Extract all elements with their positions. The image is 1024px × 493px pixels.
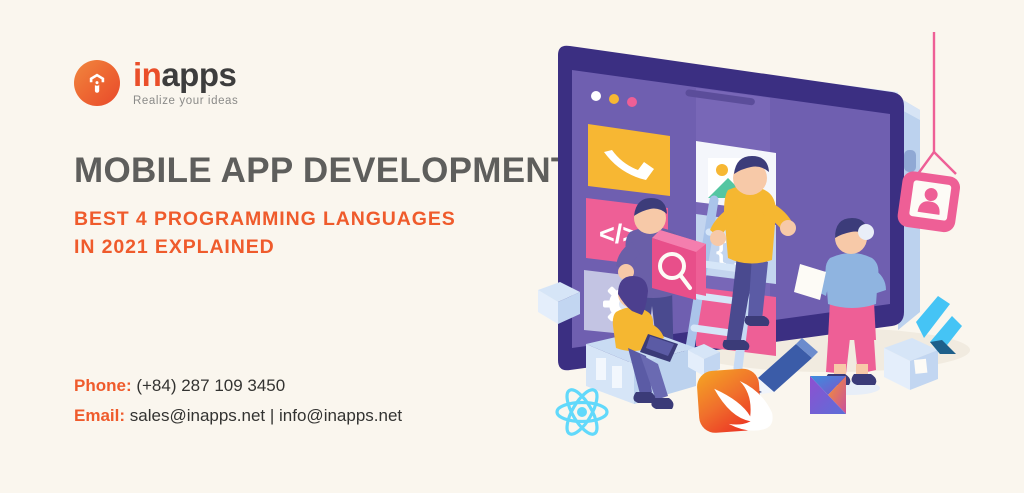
status-dot-yellow: [609, 94, 619, 104]
brand-wordmark: inapps Realize your ideas: [133, 58, 238, 108]
ladder-dev-torso: [724, 185, 776, 263]
designer-shoe-2: [852, 374, 877, 385]
box-label-1: [596, 358, 606, 380]
ladder-dev-shoe-2: [745, 316, 770, 326]
kotlin-logo: [810, 376, 846, 414]
email-value[interactable]: sales@inapps.net | info@inapps.net: [130, 406, 402, 425]
marketing-banner: inapps Realize your ideas MOBILE APP DEV…: [0, 0, 1024, 493]
email-line: Email: sales@inapps.net | info@inapps.ne…: [74, 401, 402, 431]
laptop-dev-shoe-2: [651, 398, 673, 409]
brand-name-apps: apps: [161, 56, 236, 93]
phone-label: Phone:: [74, 376, 132, 395]
brand-name: inapps: [133, 58, 238, 91]
page-subtitle: BEST 4 PROGRAMMING LANGUAGES IN 2021 EXP…: [74, 205, 574, 262]
phone-volume-button[interactable]: [904, 150, 916, 172]
page-title: MOBILE APP DEVELOPMENT: [74, 152, 574, 191]
email-label: Email:: [74, 406, 125, 425]
phone-call-tile[interactable]: [588, 124, 670, 196]
status-dot-pink: [627, 97, 637, 107]
subtitle-line-2: IN 2021 EXPLAINED: [74, 233, 574, 261]
status-dot-white: [591, 91, 601, 101]
phone-value[interactable]: (+84) 287 109 3450: [136, 376, 285, 395]
ladder-dev-hand-right: [780, 220, 796, 236]
inapps-logo-icon: [74, 60, 120, 106]
illustration: </> { }: [500, 0, 1024, 493]
brand-logo[interactable]: inapps Realize your ideas: [74, 58, 574, 108]
image-icon-sun: [716, 164, 728, 176]
contact-info: Phone: (+84) 287 109 3450 Email: sales@i…: [74, 371, 402, 431]
designer-hair-bun: [858, 224, 874, 240]
subtitle-line-1: BEST 4 PROGRAMMING LANGUAGES: [74, 205, 574, 233]
content-column: inapps Realize your ideas MOBILE APP DEV…: [74, 58, 574, 262]
ladder-dev-hand-left: [710, 230, 726, 246]
react-logo: [557, 386, 607, 439]
phone-line: Phone: (+84) 287 109 3450: [74, 371, 402, 401]
brand-tagline: Realize your ideas: [133, 96, 238, 108]
ladder-dev-shoe-1: [723, 340, 750, 350]
brand-name-in: in: [133, 56, 161, 93]
box-label-2: [612, 366, 622, 388]
